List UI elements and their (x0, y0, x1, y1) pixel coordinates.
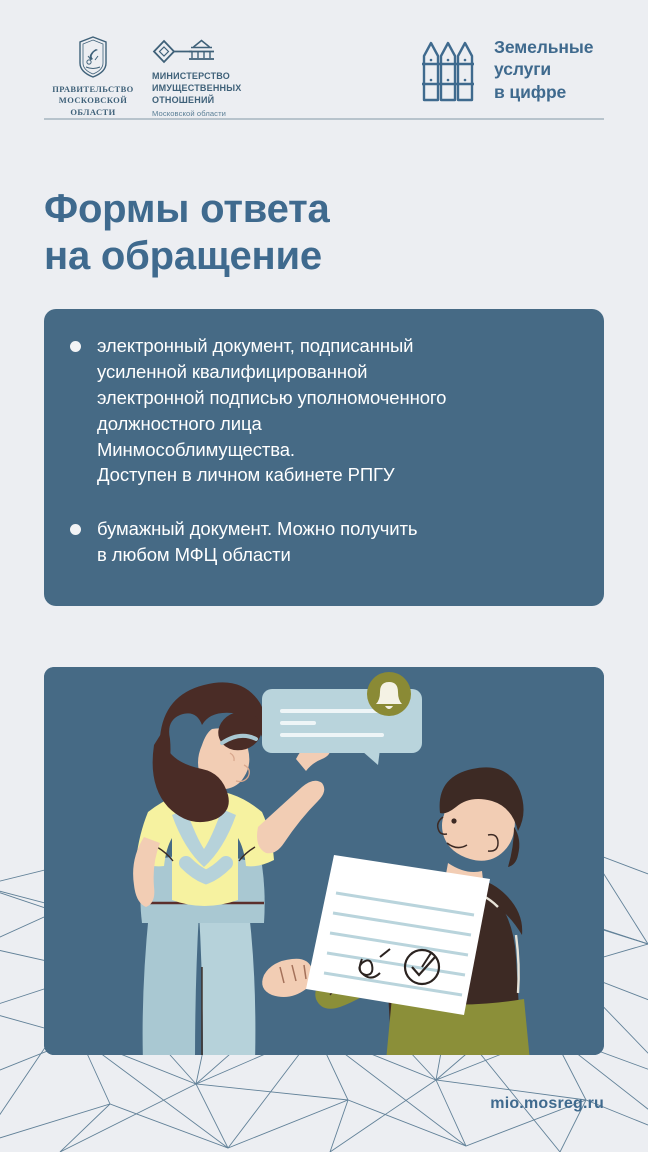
bullet-2-line-2: в любом МФЦ области (97, 542, 417, 568)
signed-document (306, 855, 490, 1015)
brand-line-3: в цифре (494, 82, 566, 102)
page-title-line-1: Формы ответа (44, 186, 564, 233)
bullet-1-line-4: должностного лица (97, 411, 446, 437)
gov-line-2: МОСКОВСКОЙ (59, 95, 127, 105)
moscow-region-coat-of-arms-icon (76, 36, 110, 78)
government-logo-text: ПРАВИТЕЛЬСТВО МОСКОВСКОЙ ОБЛАСТИ (44, 84, 142, 118)
list-item: бумажный документ. Можно получить в любо… (70, 516, 578, 568)
bullet-1-line-5: Минмособлимущества. (97, 437, 446, 463)
ministry-line-1: МИНИСТЕРСТВО (152, 71, 230, 81)
fence-icon (420, 36, 478, 102)
page-title: Формы ответа на обращение (44, 186, 564, 280)
page-title-line-2: на обращение (44, 233, 564, 280)
brand-text: Земельные услуги в цифре (494, 36, 593, 103)
header: ПРАВИТЕЛЬСТВО МОСКОВСКОЙ ОБЛАСТИ МИНИСТЕ… (0, 0, 648, 132)
ministry-logo-text: МИНИСТЕРСТВО ИМУЩЕСТВЕННЫХ ОТНОШЕНИЙ Мос… (152, 71, 282, 119)
gov-line-3: ОБЛАСТИ (70, 107, 115, 117)
gov-line-1: ПРАВИТЕЛЬСТВО (52, 84, 133, 94)
bullet-1-line-1: электронный документ, подписанный (97, 333, 446, 359)
illustration-panel (44, 667, 604, 1055)
ministry-logo: МИНИСТЕРСТВО ИМУЩЕСТВЕННЫХ ОТНОШЕНИЙ Мос… (152, 38, 282, 119)
government-logo: ПРАВИТЕЛЬСТВО МОСКОВСКОЙ ОБЛАСТИ (44, 36, 142, 118)
ministry-line-3: ОТНОШЕНИЙ (152, 95, 214, 105)
brand-line-1: Земельные (494, 37, 593, 57)
ministry-line-2: ИМУЩЕСТВЕННЫХ (152, 83, 241, 93)
answer-forms-box: электронный документ, подписанный усилен… (44, 309, 604, 606)
list-item: электронный документ, подписанный усилен… (70, 333, 578, 488)
brand-line-2: услуги (494, 59, 551, 79)
infographic-page: ПРАВИТЕЛЬСТВО МОСКОВСКОЙ ОБЛАСТИ МИНИСТЕ… (0, 0, 648, 1152)
bullet-dot-icon (70, 524, 81, 535)
bullet-dot-icon (70, 341, 81, 352)
bullet-1-line-3: электронной подписью уполномоченного (97, 385, 446, 411)
list-item-text: электронный документ, подписанный усилен… (97, 333, 446, 488)
bullet-2-line-1: бумажный документ. Можно получить (97, 516, 417, 542)
list-item-text: бумажный документ. Можно получить в любо… (97, 516, 417, 568)
bullet-1-line-6: Доступен в личном кабинете РПГУ (97, 462, 446, 488)
brand-lockup: Земельные услуги в цифре (420, 36, 593, 103)
header-divider (44, 118, 604, 120)
site-url[interactable]: mio.mosreg.ru (490, 1095, 604, 1113)
key-and-building-icon (152, 38, 226, 66)
bullet-1-line-2: усиленной квалифицированной (97, 359, 446, 385)
